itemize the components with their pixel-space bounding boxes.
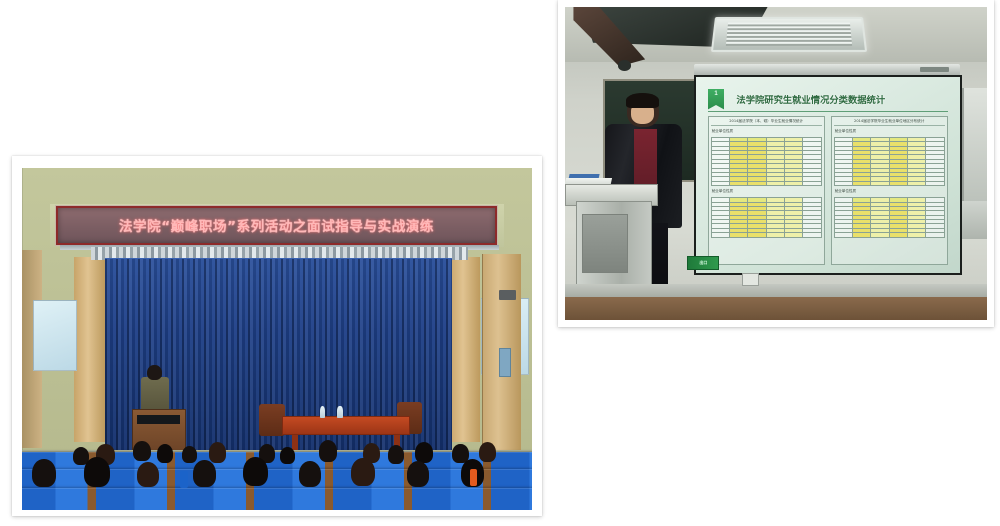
audience-head — [299, 461, 320, 486]
slide-table-left-subcaption-2: 就业单位性质 — [711, 189, 822, 194]
thermos-bottle — [180, 471, 188, 488]
slide-table-left-grid-2 — [711, 197, 822, 238]
slide-table-right-caption: 2014届法学院毕业生就业单位地区分布统计 — [834, 119, 945, 126]
podium-nameplate — [137, 415, 180, 424]
slide-number-tag: 1 — [708, 89, 725, 110]
audience-head — [319, 440, 337, 462]
water-bottle-2 — [337, 406, 343, 418]
wall-light-panel-left — [33, 300, 77, 372]
slide-table-right: 2014届法学院毕业生就业单位地区分布统计 就业单位性质 — [831, 116, 948, 265]
slide-title-underline — [708, 111, 948, 112]
audience-head — [407, 461, 429, 487]
lecture-hall-photo-image: 法学院“巅峰职场”系列活动之面试指导与实战演练 — [22, 168, 532, 510]
audience-head — [479, 442, 496, 463]
water-bottle-1 — [320, 406, 326, 418]
event-banner: 法学院“巅峰职场”系列活动之面试指导与实战演练 — [56, 206, 498, 246]
projection-screen: 1 法学院研究生就业情况分类数据统计 2014届法学院（本、硕）毕业生就业情况统… — [696, 77, 960, 273]
slide-table-right-subcaption-2: 就业单位性质 — [834, 189, 945, 194]
audience-head — [280, 447, 295, 464]
auditorium-scene: 法学院“巅峰职场”系列活动之面试指导与实战演练 — [22, 168, 532, 510]
right-wall-panel — [962, 88, 987, 201]
thermos-bottle — [470, 469, 478, 486]
audience-head — [209, 442, 226, 463]
classroom-scene: 1 法学院研究生就业情况分类数据统计 2014届法学院（本、硕）毕业生就业情况统… — [565, 7, 987, 320]
slide-tables: 2014届法学院（本、硕）毕业生就业情况统计 就业单位性质 — [708, 116, 948, 265]
wood-column-right — [449, 257, 480, 442]
exit-sign-text: 出口 — [699, 260, 707, 266]
audience-head — [157, 444, 173, 463]
classroom-photo-image: 1 法学院研究生就业情况分类数据统计 2014届法学院（本、硕）毕业生就业情况统… — [565, 7, 987, 320]
slide-table-left-subcaption: 就业单位性质 — [711, 129, 822, 134]
fluorescent-tube — [725, 23, 851, 45]
seat-row-3 — [22, 488, 532, 510]
audience-head — [388, 445, 404, 464]
wood-column-left — [74, 257, 105, 442]
audience-head — [32, 459, 55, 486]
slide-table-left-caption: 2014届法学院（本、硕）毕业生就业情况统计 — [711, 119, 822, 126]
stage-chair-left — [259, 404, 285, 436]
wall-baseboard — [565, 284, 987, 297]
right-wall-panel-lower — [962, 201, 987, 239]
event-banner-text: 法学院“巅峰职场”系列活动之面试指导与实战演练 — [119, 215, 434, 235]
slide-table-left: 2014届法学院（本、硕）毕业生就业情况统计 就业单位性质 — [708, 116, 825, 265]
audience-head — [84, 457, 110, 486]
door-sign — [499, 290, 516, 300]
lecture-hall-photo[interactable]: 法学院“巅峰职场”系列活动之面试指导与实战演练 — [12, 156, 542, 516]
presenter-hair — [626, 93, 659, 107]
ceiling-light-fixture — [711, 17, 867, 52]
exit-sign: 出口 — [687, 256, 719, 270]
audience-head — [351, 458, 374, 486]
lectern-open-compartment — [582, 214, 628, 273]
door-handle — [499, 348, 511, 377]
screen-brand-label — [920, 67, 949, 72]
slide-title-row: 1 法学院研究生就业情况分类数据统计 — [708, 86, 948, 112]
slide-table-right-subcaption: 就业单位性质 — [834, 129, 945, 134]
audience-head — [193, 460, 215, 487]
slide-title: 法学院研究生就业情况分类数据统计 — [736, 92, 885, 106]
classroom-floor — [565, 297, 987, 320]
slide-table-right-grid — [834, 137, 945, 186]
speaker-head — [147, 365, 162, 381]
ceiling-sensor — [618, 60, 632, 71]
slide-table-right-grid-2 — [834, 197, 945, 238]
audience-head — [182, 446, 197, 463]
page-root: 法学院“巅峰职场”系列活动之面试指导与实战演练 — [0, 0, 1000, 526]
stage-table — [282, 416, 410, 435]
projection-screen-frame: 1 法学院研究生就业情况分类数据统计 2014届法学院（本、硕）毕业生就业情况统… — [694, 75, 962, 275]
audience-head — [137, 462, 158, 487]
audience-head — [243, 457, 267, 486]
slide-number-text: 1 — [714, 91, 717, 97]
wall-socket — [742, 273, 759, 286]
slide-table-left-grid — [711, 137, 822, 186]
classroom-presentation-photo[interactable]: 1 法学院研究生就业情况分类数据统计 2014届法学院（本、硕）毕业生就业情况统… — [558, 0, 994, 327]
audience-head — [133, 441, 150, 462]
